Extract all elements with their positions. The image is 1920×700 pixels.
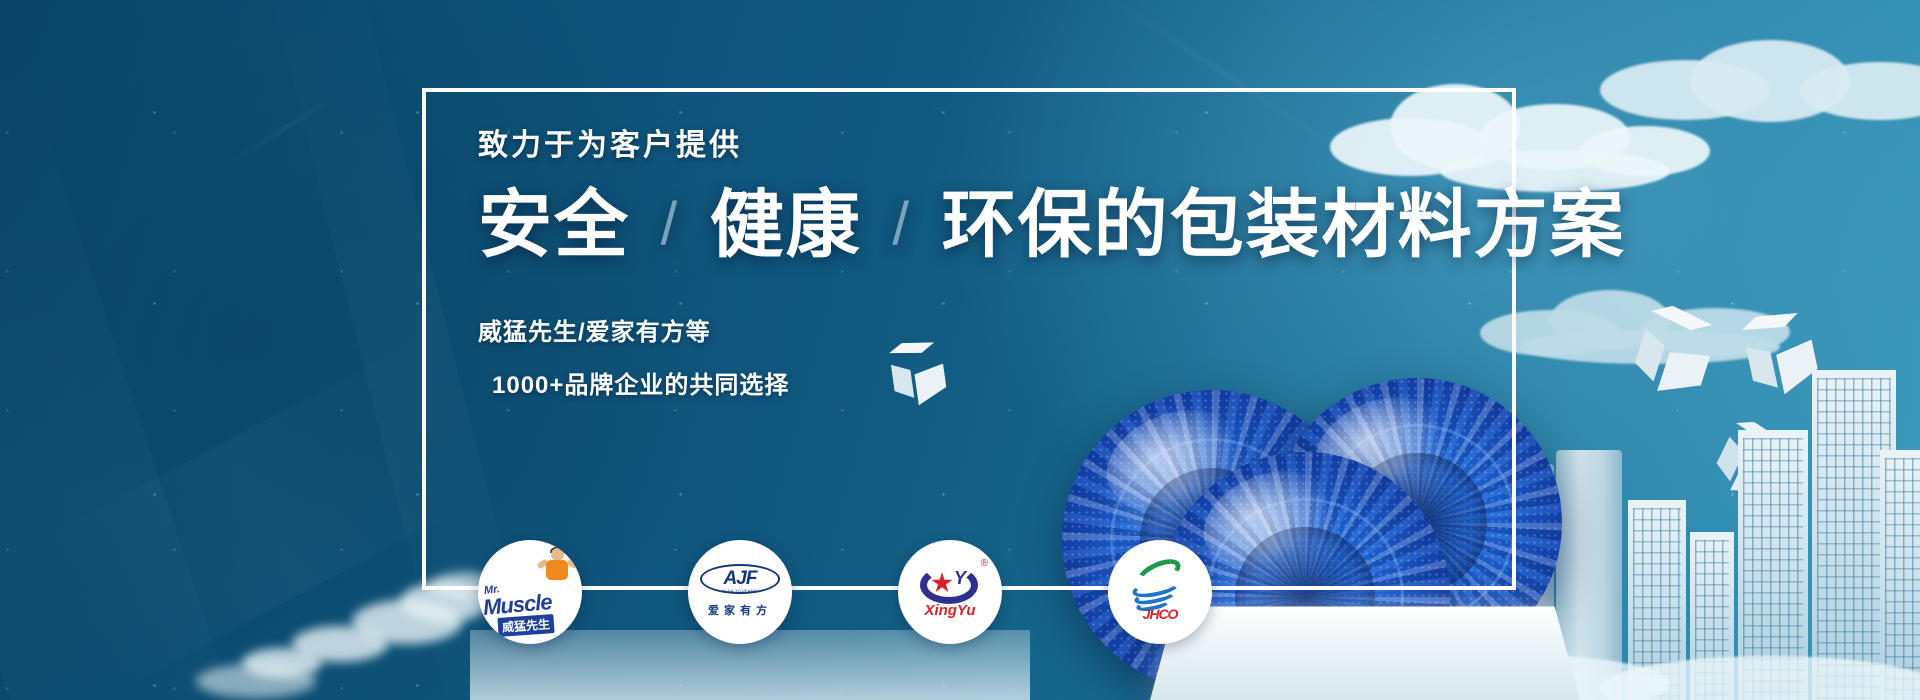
banner-subtitle: 威猛先生/爱家有方等 1000+品牌企业的共同选择 <box>478 312 1458 400</box>
ajf-mark-large: AJF <box>712 568 768 590</box>
headline-part-3: 环保的包装材料方案 <box>942 183 1626 266</box>
headline-part-1: 安全 <box>478 183 630 266</box>
jhco-wordmark: JHCO <box>1108 606 1212 622</box>
jhco-logo-icon: JHCO <box>1108 540 1212 644</box>
ajf-mark-cn: 爱家有方 <box>698 602 782 618</box>
ajf-logo-icon: AJF AIJIA YOUFANG 爱家有方 <box>688 540 792 644</box>
banner-headline: 安全 / 健康 / 环保的包装材料方案 <box>478 186 1458 264</box>
xingyu-logo-icon: Y ® XingYu <box>898 540 1002 644</box>
headline-separator: / <box>653 190 688 257</box>
brand-badge-ajf[interactable]: AJF AIJIA YOUFANG 爱家有方 <box>688 540 792 644</box>
brand-badge-jhco[interactable]: JHCO <box>1108 540 1212 644</box>
subtitle-line-2: 1000+品牌企业的共同选择 <box>492 365 1458 400</box>
brand-badge-xingyu[interactable]: Y ® XingYu <box>898 540 1002 644</box>
headline-block: 致力于为客户提供 安全 / 健康 / 环保的包装材料方案 威猛先生/爱家有方等 … <box>478 128 1458 400</box>
subtitle-line-1: 威猛先生/爱家有方等 <box>478 312 1458 347</box>
brand-badge-mr-muscle[interactable]: Mr. Muscle 威猛先生 <box>478 540 582 644</box>
xingyu-arc-icon <box>920 566 978 604</box>
headline-separator: / <box>884 190 919 257</box>
mr-muscle-mark-cn: 威猛先生 <box>497 614 554 637</box>
registered-mark-icon: ® <box>981 558 988 569</box>
mr-muscle-logo-icon: Mr. Muscle 威猛先生 <box>478 540 582 644</box>
muscle-man-mascot-icon <box>542 548 572 586</box>
brand-badge-row: Mr. Muscle 威猛先生 AJF AIJIA YOUFANG 爱家有方 Y… <box>478 540 1212 644</box>
promo-banner: 致力于为客户提供 安全 / 健康 / 环保的包装材料方案 威猛先生/爱家有方等 … <box>0 0 1920 700</box>
product-pedestal <box>1150 607 1580 700</box>
xingyu-mark-large: Y <box>954 568 966 589</box>
ajf-mark-tagline: AIJIA YOUFANG <box>704 588 776 593</box>
xingyu-wordmark: XingYu <box>898 602 1002 619</box>
headline-part-2: 健康 <box>710 183 862 266</box>
banner-eyebrow: 致力于为客户提供 <box>478 128 1458 164</box>
